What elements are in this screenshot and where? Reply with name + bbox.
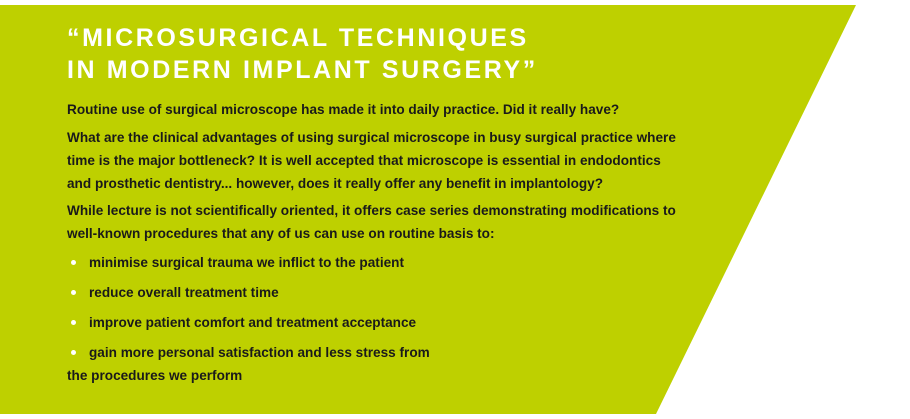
list-item: minimise surgical trauma we inflict to t… (67, 251, 687, 274)
list-item-wrap-line: the procedures we perform (67, 364, 687, 387)
page-title: “MICROSURGICAL TECHNIQUES IN MODERN IMPL… (67, 22, 767, 86)
benefits-bullet-list: minimise surgical trauma we inflict to t… (67, 251, 687, 387)
bullet-dot-icon (71, 260, 76, 265)
paragraph-3: While lecture is not scientifically orie… (67, 199, 687, 245)
list-item: reduce overall treatment time (67, 281, 687, 304)
title-line-1: “MICROSURGICAL TECHNIQUES (67, 22, 767, 54)
list-item-label: reduce overall treatment time (89, 285, 279, 300)
list-item-label: improve patient comfort and treatment ac… (89, 315, 416, 330)
body-text-block: Routine use of surgical microscope has m… (67, 98, 687, 394)
paragraph-2: What are the clinical advantages of usin… (67, 126, 687, 195)
list-item: improve patient comfort and treatment ac… (67, 311, 687, 334)
bullet-dot-icon (71, 350, 76, 355)
bullet-dot-icon (71, 320, 76, 325)
bullet-dot-icon (71, 290, 76, 295)
list-item-label: gain more personal satisfaction and less… (89, 345, 430, 360)
list-item: gain more personal satisfaction and less… (67, 341, 687, 387)
slide-root: “MICROSURGICAL TECHNIQUES IN MODERN IMPL… (0, 0, 910, 419)
paragraph-1: Routine use of surgical microscope has m… (67, 98, 687, 121)
title-line-2: IN MODERN IMPLANT SURGERY” (67, 54, 767, 86)
list-item-label: minimise surgical trauma we inflict to t… (89, 255, 404, 270)
slide-content: “MICROSURGICAL TECHNIQUES IN MODERN IMPL… (0, 0, 910, 419)
